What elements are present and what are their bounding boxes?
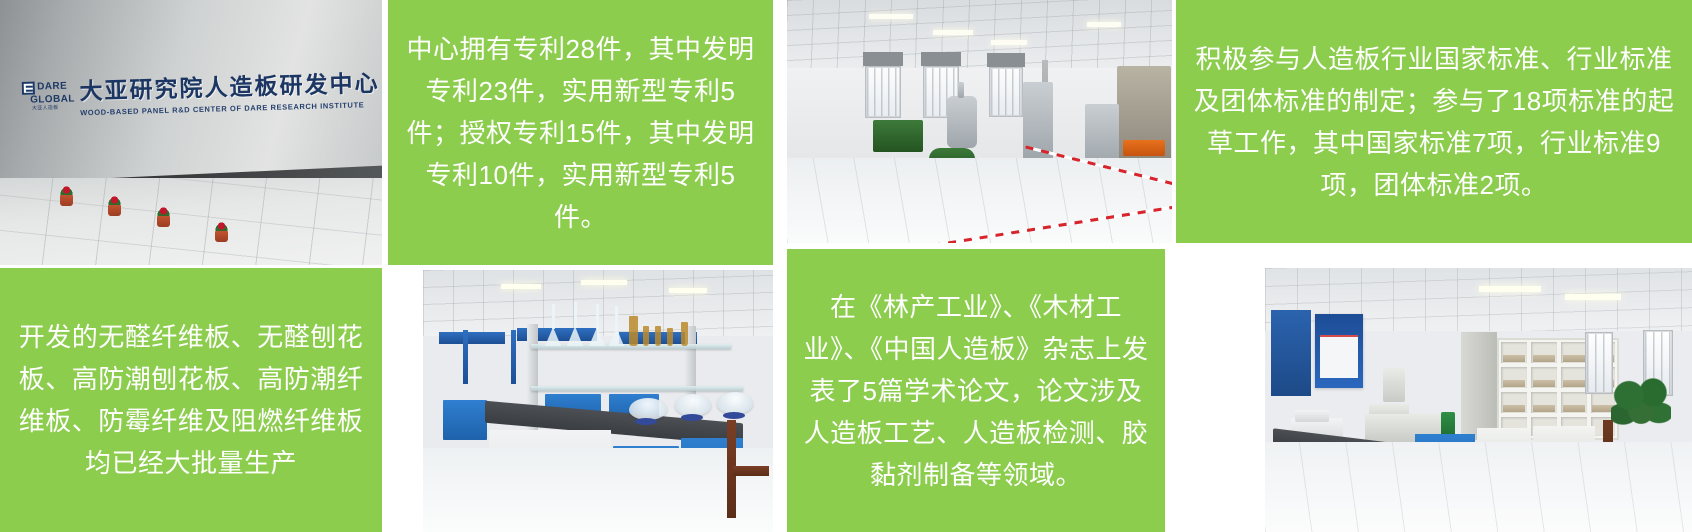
tail-pointer-up	[1232, 217, 1266, 243]
blue-cabinet	[443, 400, 487, 440]
window	[865, 66, 901, 118]
desiccator	[675, 394, 711, 416]
ceiling-lamp	[581, 280, 627, 285]
green-machine	[873, 120, 923, 152]
potted-plant	[155, 203, 172, 227]
products-text: 开发的无醛纤维板、无醛刨花板、高防潮刨花板、高防潮纤维板、防霉纤维及阻燃纤维板均…	[0, 316, 382, 484]
printer-tray	[1295, 410, 1329, 422]
blue-stand	[635, 418, 657, 425]
window	[989, 67, 1023, 117]
ceiling-lamp	[933, 30, 973, 35]
reactor-stack	[958, 82, 964, 98]
amber-bottle	[643, 326, 649, 346]
logo-dare-text: DARE	[37, 82, 67, 93]
volumetric-flask	[567, 302, 583, 346]
amber-bottle	[655, 326, 661, 346]
hydraulic-unit	[1085, 104, 1119, 164]
ceiling-lamp	[1565, 294, 1621, 300]
blue-wall-strip	[463, 330, 468, 384]
dare-logo-mark	[22, 81, 35, 94]
logo-global-text: GLOBAL	[30, 94, 75, 105]
products-text-panel: 开发的无醛纤维板、无醛刨花板、高防潮刨花板、高防潮纤维板、防霉纤维及阻燃纤维板均…	[0, 268, 382, 532]
amber-bottle	[629, 316, 638, 346]
blue-door	[1271, 310, 1311, 396]
shelf-cubby	[1531, 392, 1557, 413]
ceiling-lamp	[669, 288, 707, 293]
reactor-vessel	[947, 96, 977, 148]
papers-text-panel: 在《林产工业》、《木材工业》、《中国人造板》杂志上发表了5篇学术论文，论文涉及人…	[787, 249, 1165, 532]
blue-wall-panel	[439, 332, 505, 344]
sign-title-cn: 大亚研究院人造板研发中心	[79, 64, 380, 106]
tall-grey-cabinet	[1461, 332, 1497, 440]
shelf-cubby	[1531, 367, 1557, 388]
wooden-chair-seat	[733, 466, 769, 476]
volumetric-flask	[589, 304, 605, 346]
collage-container: DARE GLOBAL 大亚人造板 大亚研究院人造板研发中心 WOOD-BASE…	[0, 0, 1692, 532]
shelf-cubby	[1531, 342, 1557, 363]
tail-pointer-up	[390, 239, 424, 265]
instrument-room-photo	[1265, 268, 1692, 532]
window	[1585, 332, 1613, 394]
shelf-cubby	[1561, 367, 1587, 388]
desiccator	[629, 398, 667, 420]
glass-shelf	[531, 386, 743, 391]
pilot-workshop-photo	[787, 0, 1172, 243]
desiccator	[717, 392, 753, 414]
shelf-cubby	[1501, 367, 1527, 388]
ceiling-lamp	[869, 14, 913, 19]
volumetric-flask	[545, 304, 561, 346]
entrance-wall-photo: DARE GLOBAL 大亚人造板 大亚研究院人造板研发中心 WOOD-BASE…	[0, 0, 382, 265]
window-blind	[921, 52, 961, 66]
window-blind	[987, 53, 1025, 67]
shelf-cubby	[1501, 392, 1527, 413]
shelf-cubby	[1561, 392, 1587, 413]
ceiling-lamp	[1087, 22, 1121, 27]
press-base	[1123, 140, 1165, 156]
patents-text: 中心拥有专利28件，其中发明专利23件，实用新型专利5件；授权专利15件，其中发…	[388, 28, 773, 238]
logo-subtitle-cn: 大亚人造板	[32, 105, 59, 111]
chemistry-lab-photo	[423, 270, 773, 532]
ceiling-lamp	[991, 40, 1027, 45]
volumetric-flask	[609, 306, 624, 346]
standards-text: 积极参与人造板行业国家标准、行业标准及团体标准的制定；参与了18项标准的起草工作…	[1176, 38, 1692, 206]
floor	[1265, 442, 1692, 532]
dare-global-logo: DARE GLOBAL 大亚人造板	[15, 80, 75, 112]
patents-text-panel: 中心拥有专利28件，其中发明专利23件，实用新型专利5件；授权专利15件，其中发…	[388, 0, 773, 265]
potted-plant	[1611, 378, 1671, 436]
amber-bottle	[681, 322, 688, 346]
ceiling-lamp	[1479, 286, 1541, 292]
potted-plant	[106, 192, 123, 216]
potted-plant	[58, 182, 75, 206]
blue-stand	[723, 412, 745, 419]
papers-text: 在《林产工业》、《木材工业》、《中国人造板》杂志上发表了5篇学术论文，论文涉及人…	[787, 286, 1165, 496]
potted-plant	[213, 218, 230, 242]
shelf-cubby	[1501, 342, 1527, 363]
window-blind	[863, 52, 903, 66]
blue-wall-strip	[511, 330, 516, 384]
ceiling-lamp	[501, 284, 541, 289]
tail-pointer-down	[806, 249, 840, 275]
blue-stand	[681, 414, 703, 421]
instrument-column	[1383, 368, 1405, 402]
ceiling-grid	[787, 0, 1172, 73]
floor	[423, 448, 773, 532]
amber-bottle	[667, 328, 673, 346]
standards-text-panel: 积极参与人造板行业国家标准、行业标准及团体标准的制定；参与了18项标准的起草工作…	[1176, 0, 1692, 243]
shelf-cubby	[1561, 342, 1587, 363]
wall-poster	[1315, 314, 1363, 388]
